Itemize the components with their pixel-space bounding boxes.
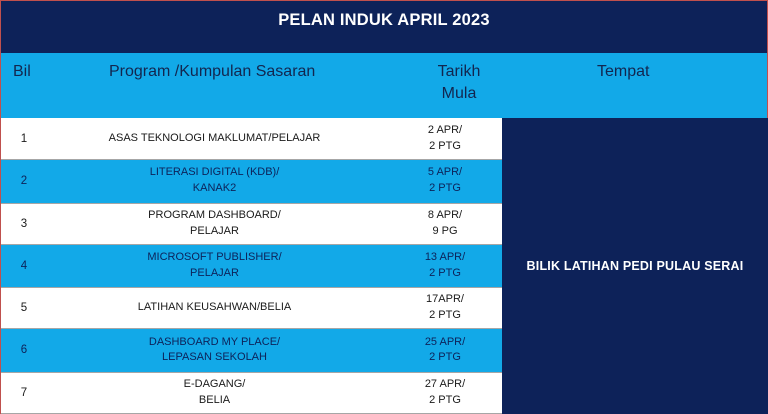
table-row: 6DASHBOARD MY PLACE/ LEPASAN SEKOLAH25 A…	[1, 329, 502, 371]
table-row: 4MICROSOFT PUBLISHER/ PELAJAR13 APR/ 2 P…	[1, 245, 502, 287]
cell-tarikh-mula: 8 APR/ 9 PG	[398, 208, 502, 240]
cell-bil: 5	[1, 302, 47, 314]
table-header-row: Bil Program /Kumpulan Sasaran Tarikh Mul…	[0, 53, 768, 118]
cell-program: LITERASI DIGITAL (KDB)/ KANAK2	[47, 165, 398, 197]
cell-bil: 4	[1, 260, 47, 272]
cell-bil: 3	[1, 218, 47, 230]
tempat-merged-cell: BILIK LATIHAN PEDI PULAU SERAI	[502, 118, 768, 414]
table-row: 2LITERASI DIGITAL (KDB)/ KANAK25 APR/ 2 …	[1, 160, 502, 202]
column-header-program: Program /Kumpulan Sasaran	[109, 61, 315, 83]
cell-bil: 7	[1, 387, 47, 399]
cell-tarikh-mula: 2 APR/ 2 PTG	[398, 123, 502, 155]
table-body: 1ASAS TEKNOLOGI MAKLUMAT/PELAJAR2 APR/ 2…	[0, 118, 768, 414]
cell-program: LATIHAN KEUSAHWAN/BELIA	[47, 300, 398, 316]
column-header-tarikh-mula: Tarikh Mula	[419, 61, 499, 104]
cell-tarikh-mula: 25 APR/ 2 PTG	[398, 335, 502, 367]
cell-tarikh-mula: 27 APR/ 2 PTG	[398, 377, 502, 409]
cell-tarikh-mula: 5 APR/ 2 PTG	[398, 165, 502, 197]
slide-canvas: PELAN INDUK APRIL 2023 Bil Program /Kump…	[0, 0, 768, 414]
cell-bil: 1	[1, 133, 47, 145]
cell-bil: 2	[1, 175, 47, 187]
slide-title-bar: PELAN INDUK APRIL 2023	[0, 0, 768, 53]
table-row: 5LATIHAN KEUSAHWAN/BELIA17APR/ 2 PTG	[1, 287, 502, 329]
cell-program: ASAS TEKNOLOGI MAKLUMAT/PELAJAR	[47, 131, 398, 147]
tempat-value: BILIK LATIHAN PEDI PULAU SERAI	[527, 259, 744, 273]
cell-program: E-DAGANG/ BELIA	[47, 377, 398, 409]
column-header-bil: Bil	[13, 61, 31, 83]
cell-program: DASHBOARD MY PLACE/ LEPASAN SEKOLAH	[47, 335, 398, 367]
table-row: 1ASAS TEKNOLOGI MAKLUMAT/PELAJAR2 APR/ 2…	[1, 118, 502, 160]
cell-program: MICROSOFT PUBLISHER/ PELAJAR	[47, 250, 398, 282]
cell-tarikh-mula: 13 APR/ 2 PTG	[398, 250, 502, 282]
cell-tarikh-mula: 17APR/ 2 PTG	[398, 292, 502, 324]
column-header-tempat: Tempat	[597, 61, 649, 83]
table-row: 7E-DAGANG/ BELIA27 APR/ 2 PTG	[1, 372, 502, 414]
cell-bil: 6	[1, 344, 47, 356]
table-row: 3PROGRAM DASHBOARD/ PELAJAR8 APR/ 9 PG	[1, 203, 502, 245]
table-rows-container: 1ASAS TEKNOLOGI MAKLUMAT/PELAJAR2 APR/ 2…	[1, 118, 502, 414]
page-title: PELAN INDUK APRIL 2023	[278, 11, 490, 30]
cell-program: PROGRAM DASHBOARD/ PELAJAR	[47, 208, 398, 240]
